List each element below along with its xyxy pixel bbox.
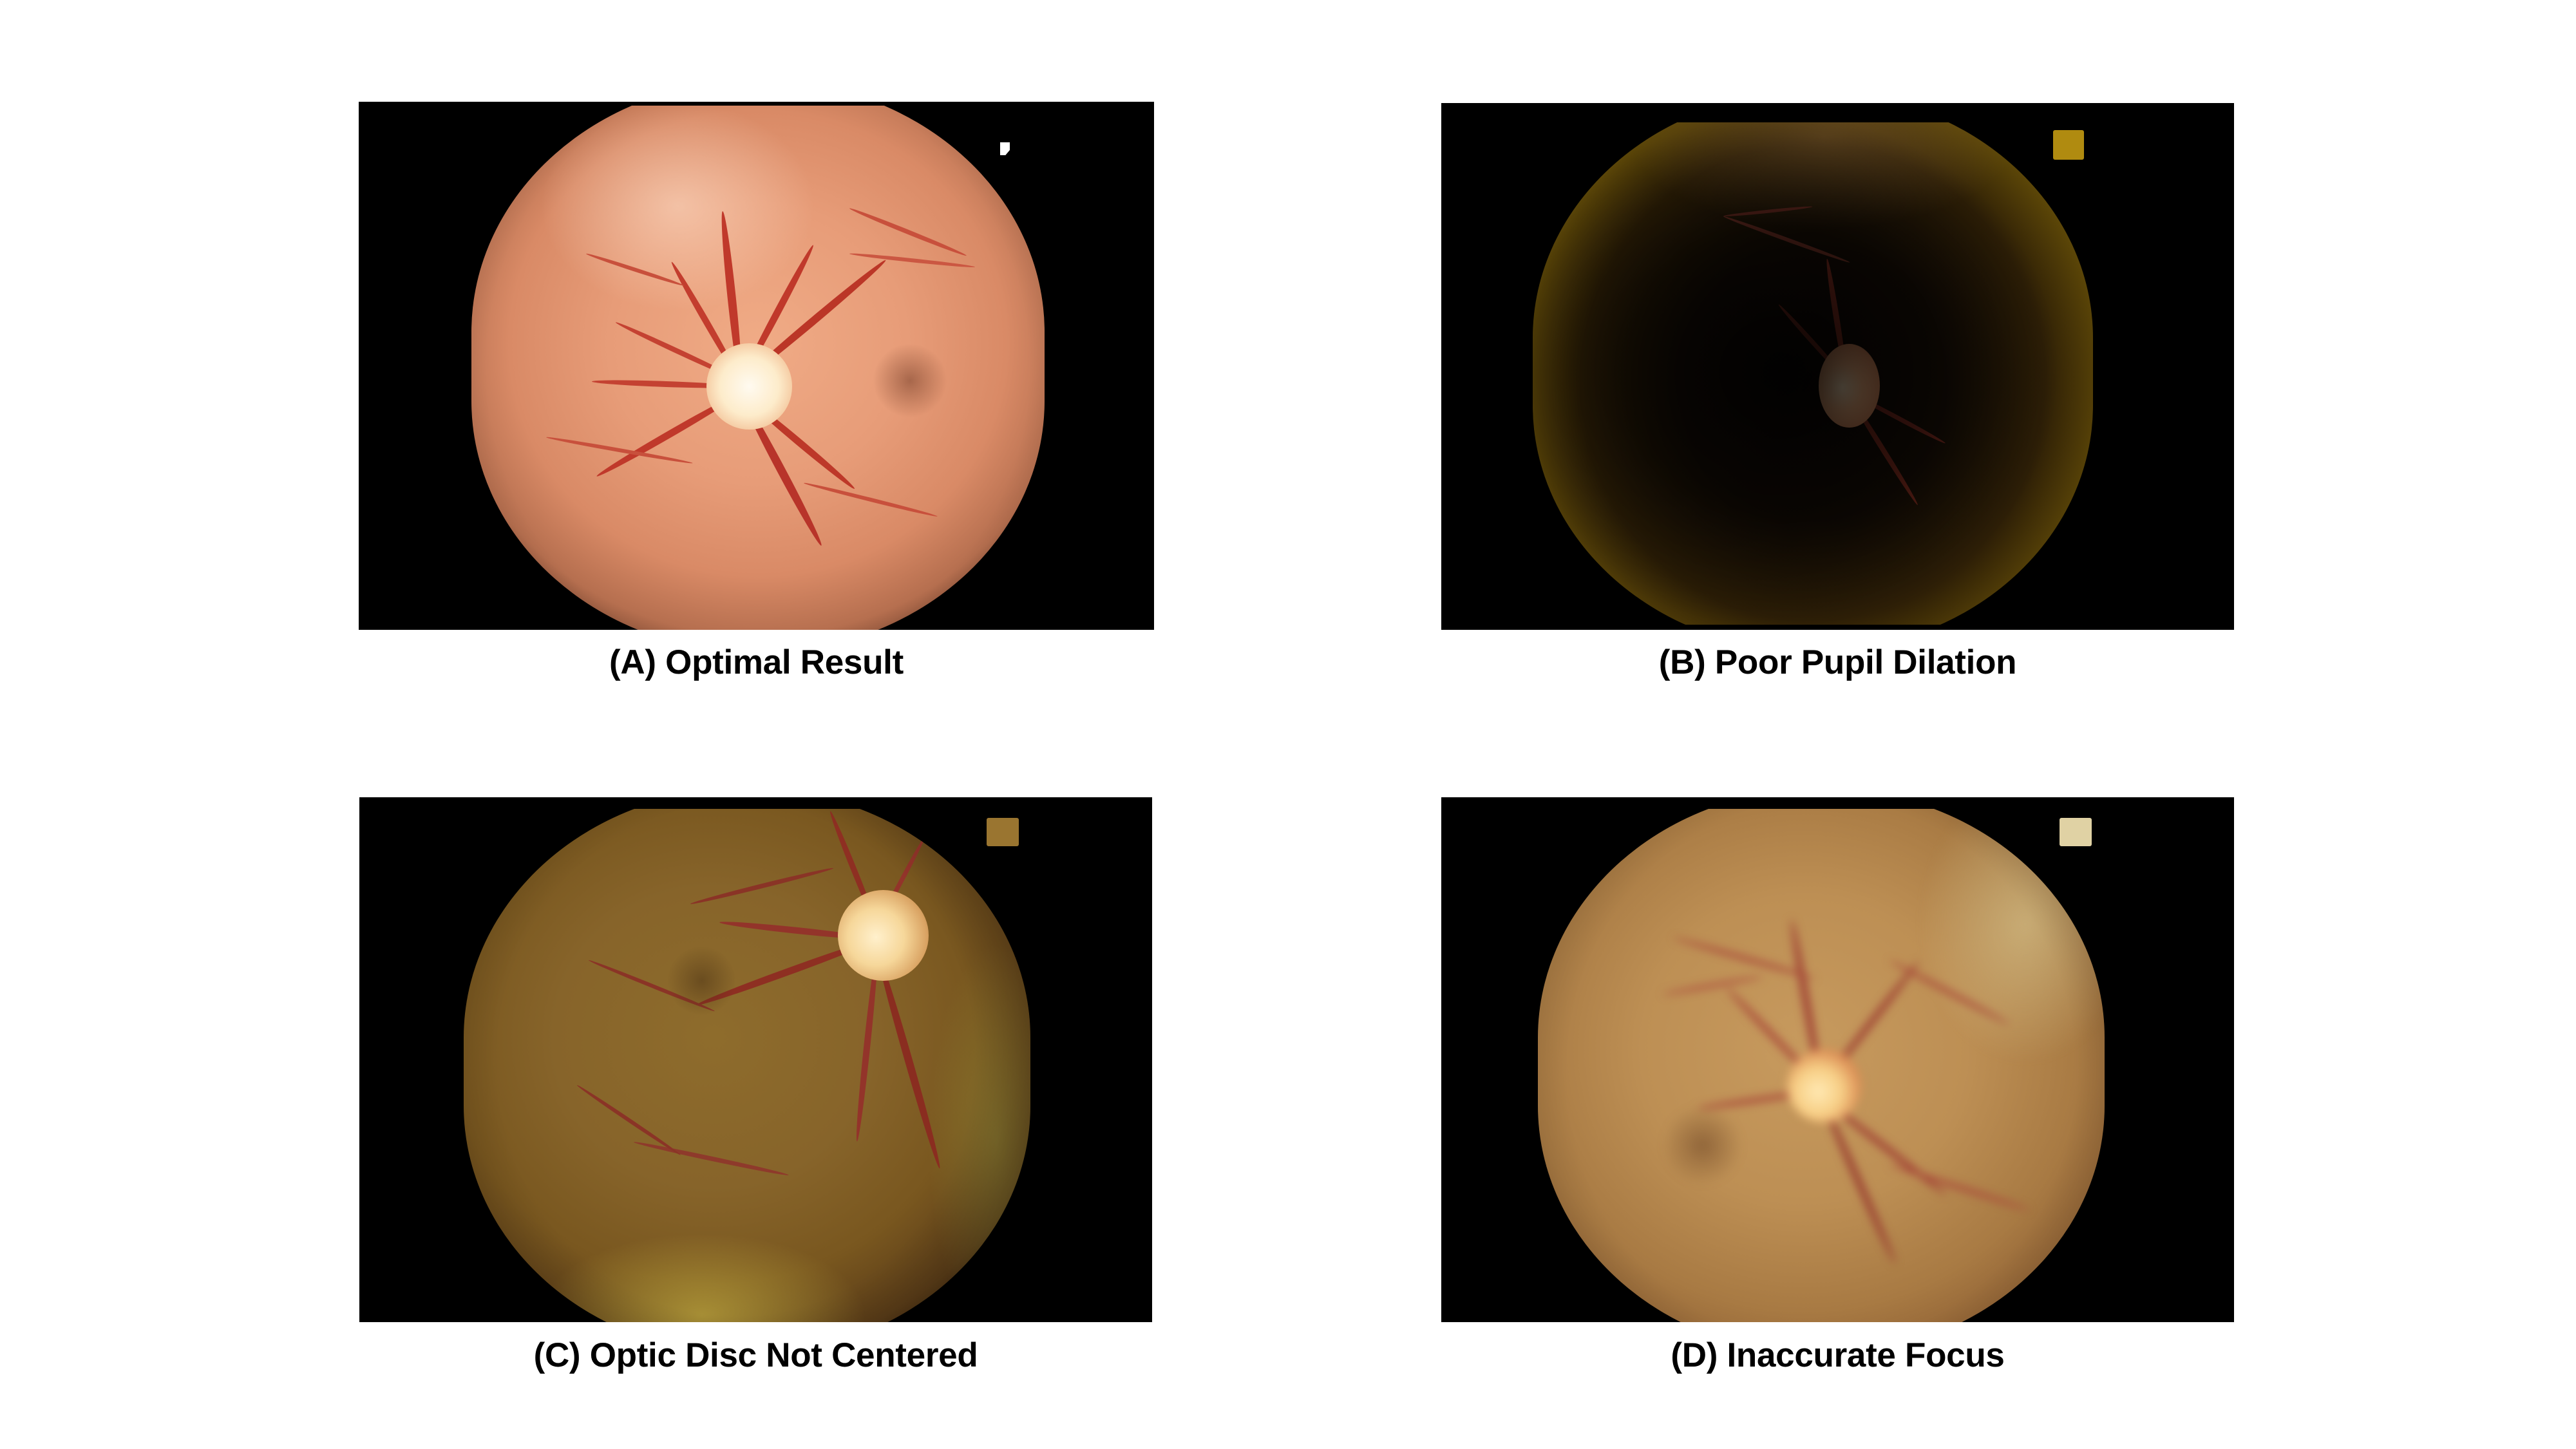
panel-c-crop-top — [464, 797, 1030, 809]
panel-b-crop-bottom — [1533, 625, 2093, 630]
panel-c-frame — [359, 797, 1152, 1322]
panel-a: (A) Optimal Result — [359, 102, 1154, 630]
panel-c-caption: (C) Optic Disc Not Centered — [192, 1336, 1320, 1375]
panel-b-vignette — [1533, 103, 2093, 630]
panel-b-fundus-image — [1533, 103, 2093, 630]
panel-b-crop-top — [1533, 103, 2093, 122]
panel-c-fundus-image — [464, 797, 1030, 1322]
panel-a-fundus-image — [471, 102, 1045, 630]
panel-d-fundus-image — [1538, 797, 2105, 1322]
panel-b-caption: (B) Poor Pupil Dilation — [1274, 643, 2401, 682]
panel-a-frame — [359, 102, 1154, 630]
panel-c: (C) Optic Disc Not Centered — [359, 797, 1152, 1322]
panel-d-crop-top — [1538, 797, 2105, 809]
panel-a-vignette — [471, 102, 1045, 630]
panel-d-notch-tab — [2060, 818, 2092, 846]
panel-b-notch-tab — [2053, 130, 2084, 160]
panel-a-caption: (A) Optimal Result — [191, 643, 1321, 682]
panel-c-notch-tab — [987, 818, 1019, 846]
panel-d: (D) Inaccurate Focus — [1441, 797, 2234, 1322]
panel-d-caption: (D) Inaccurate Focus — [1274, 1336, 2401, 1375]
panel-b: (B) Poor Pupil Dilation — [1441, 103, 2234, 630]
panel-b-frame — [1441, 103, 2234, 630]
panel-d-vignette — [1538, 797, 2105, 1322]
panel-a-crop-top — [471, 102, 1045, 106]
panel-d-frame — [1441, 797, 2234, 1322]
panel-c-vignette — [464, 797, 1030, 1322]
fundus-quality-figure: (A) Optimal Result — [0, 0, 2576, 1449]
